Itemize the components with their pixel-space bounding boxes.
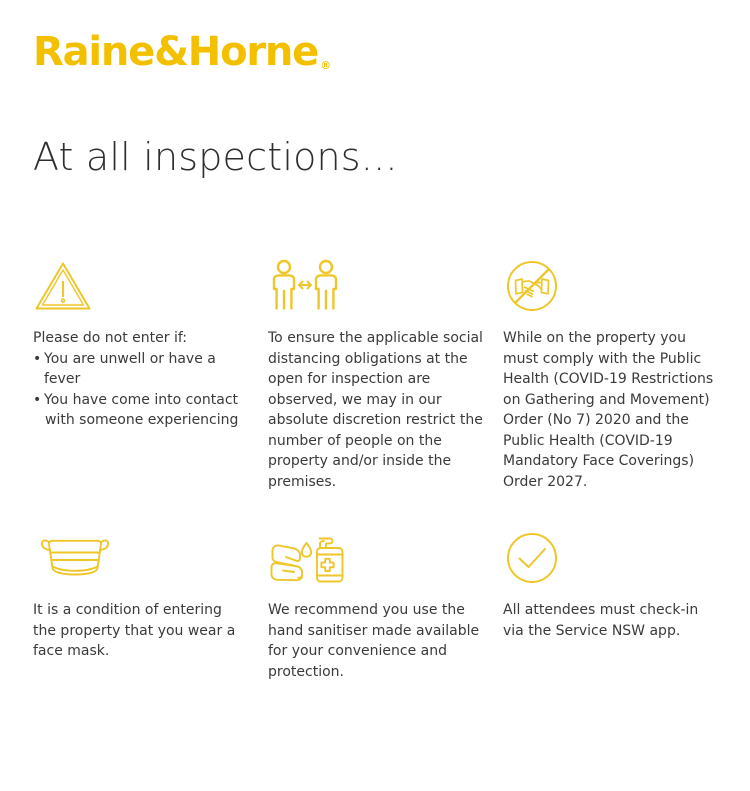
bullet-line-1: You have come into contact	[44, 392, 238, 408]
registered-trademark-icon: ®	[320, 60, 331, 71]
poster-page: Raine&Horne ® At all inspections... Plea…	[0, 0, 750, 791]
page-title: At all inspections...	[33, 136, 398, 180]
advice-tile-face-mask: It is a condition of entering the proper…	[33, 530, 268, 682]
social-distancing-icon	[268, 258, 503, 316]
bullet-line-2: with someone experiencing	[44, 410, 248, 431]
advice-tile-body: All attendees must check-in via the Serv…	[503, 600, 718, 641]
brand-logo: Raine&Horne ®	[33, 32, 331, 72]
advice-tile-body: Please do not enter if: You are unwell o…	[33, 328, 248, 431]
advice-grid: Please do not enter if: You are unwell o…	[33, 258, 723, 682]
advice-tile-do-not-enter: Please do not enter if: You are unwell o…	[33, 258, 268, 530]
advice-tile-body: While on the property you must comply wi…	[503, 328, 718, 492]
advice-tile-social-distancing: To ensure the applicable social distanci…	[268, 258, 503, 530]
brand-name: Raine&Horne	[33, 32, 318, 72]
advice-tile-hand-sanitiser: We recommend you use the hand sanitiser …	[268, 530, 503, 682]
advice-lead-text: Please do not enter if:	[33, 328, 248, 349]
advice-tile-body: To ensure the applicable social distanci…	[268, 328, 483, 492]
face-mask-icon	[33, 530, 268, 588]
bullet-line-1: You are unwell or have a fever	[44, 351, 216, 388]
no-handshake-icon	[503, 258, 723, 316]
advice-bullet-list: You are unwell or have a fever You have …	[33, 349, 248, 431]
check-circle-icon	[503, 530, 723, 588]
advice-tile-check-in: All attendees must check-in via the Serv…	[503, 530, 723, 682]
list-item: You have come into contact with someone …	[33, 390, 248, 431]
advice-tile-body: It is a condition of entering the proper…	[33, 600, 248, 662]
list-item: You are unwell or have a fever	[33, 349, 248, 390]
advice-tile-public-health-order: While on the property you must comply wi…	[503, 258, 723, 530]
warning-triangle-icon	[33, 258, 268, 316]
advice-tile-body: We recommend you use the hand sanitiser …	[268, 600, 483, 682]
hand-sanitiser-icon	[268, 530, 503, 588]
